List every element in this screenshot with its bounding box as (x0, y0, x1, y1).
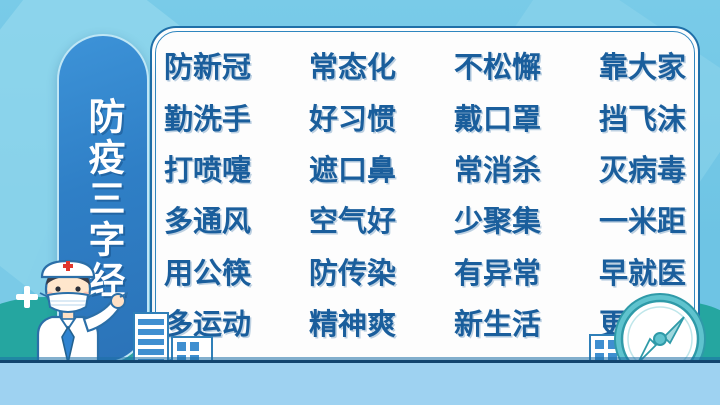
slogan-phrase: 新生活 (454, 309, 541, 339)
slogan-phrase: 有异常 (454, 258, 541, 288)
bottom-band (0, 360, 720, 405)
slogan-phrase: 多通风 (164, 206, 251, 236)
doctor-illustration (8, 251, 128, 371)
slogan-phrase: 靠大家 (599, 52, 686, 82)
slogan-phrase: 戴口罩 (454, 104, 541, 134)
slogan-row: 勤洗手 好习惯 戴口罩 挡飞沫 (164, 104, 686, 134)
slogan-phrase: 早就医 (599, 258, 686, 288)
slogan-row: 打喷嚏 遮口鼻 常消杀 灭病毒 (164, 155, 686, 185)
slogan-phrase: 常态化 (309, 52, 396, 82)
slogan-phrase: 遮口鼻 (309, 155, 396, 185)
slogan-phrase: 防新冠 (164, 52, 251, 82)
slogan-row: 用公筷 防传染 有异常 早就医 (164, 258, 686, 288)
slogan-row: 防新冠 常态化 不松懈 靠大家 (164, 52, 686, 82)
slogan-phrase: 不松懈 (454, 52, 541, 82)
slogan-phrase: 好习惯 (309, 104, 396, 134)
slogan-phrase: 精神爽 (309, 309, 396, 339)
slogan-phrase: 常消杀 (454, 155, 541, 185)
slogan-phrase: 挡飞沫 (599, 104, 686, 134)
slogan-phrase: 少聚集 (454, 206, 541, 236)
medical-cross-icon (42, 320, 53, 331)
medical-cross-icon (16, 286, 38, 308)
slogan-phrase: 空气好 (309, 206, 396, 236)
slogan-phrase: 一米距 (599, 206, 686, 236)
slogan-phrase: 防传染 (309, 258, 396, 288)
slogan-phrase: 灭病毒 (599, 155, 686, 185)
slogan-phrase: 用公筷 (164, 258, 251, 288)
slogan-row: 多通风 空气好 少聚集 一米距 (164, 206, 686, 236)
slogan-phrase: 勤洗手 (164, 104, 251, 134)
slogan-phrase: 打喷嚏 (164, 155, 251, 185)
poster-canvas: 防新冠 常态化 不松懈 靠大家 勤洗手 好习惯 戴口罩 挡飞沫 打喷嚏 遮口鼻 … (0, 0, 720, 405)
